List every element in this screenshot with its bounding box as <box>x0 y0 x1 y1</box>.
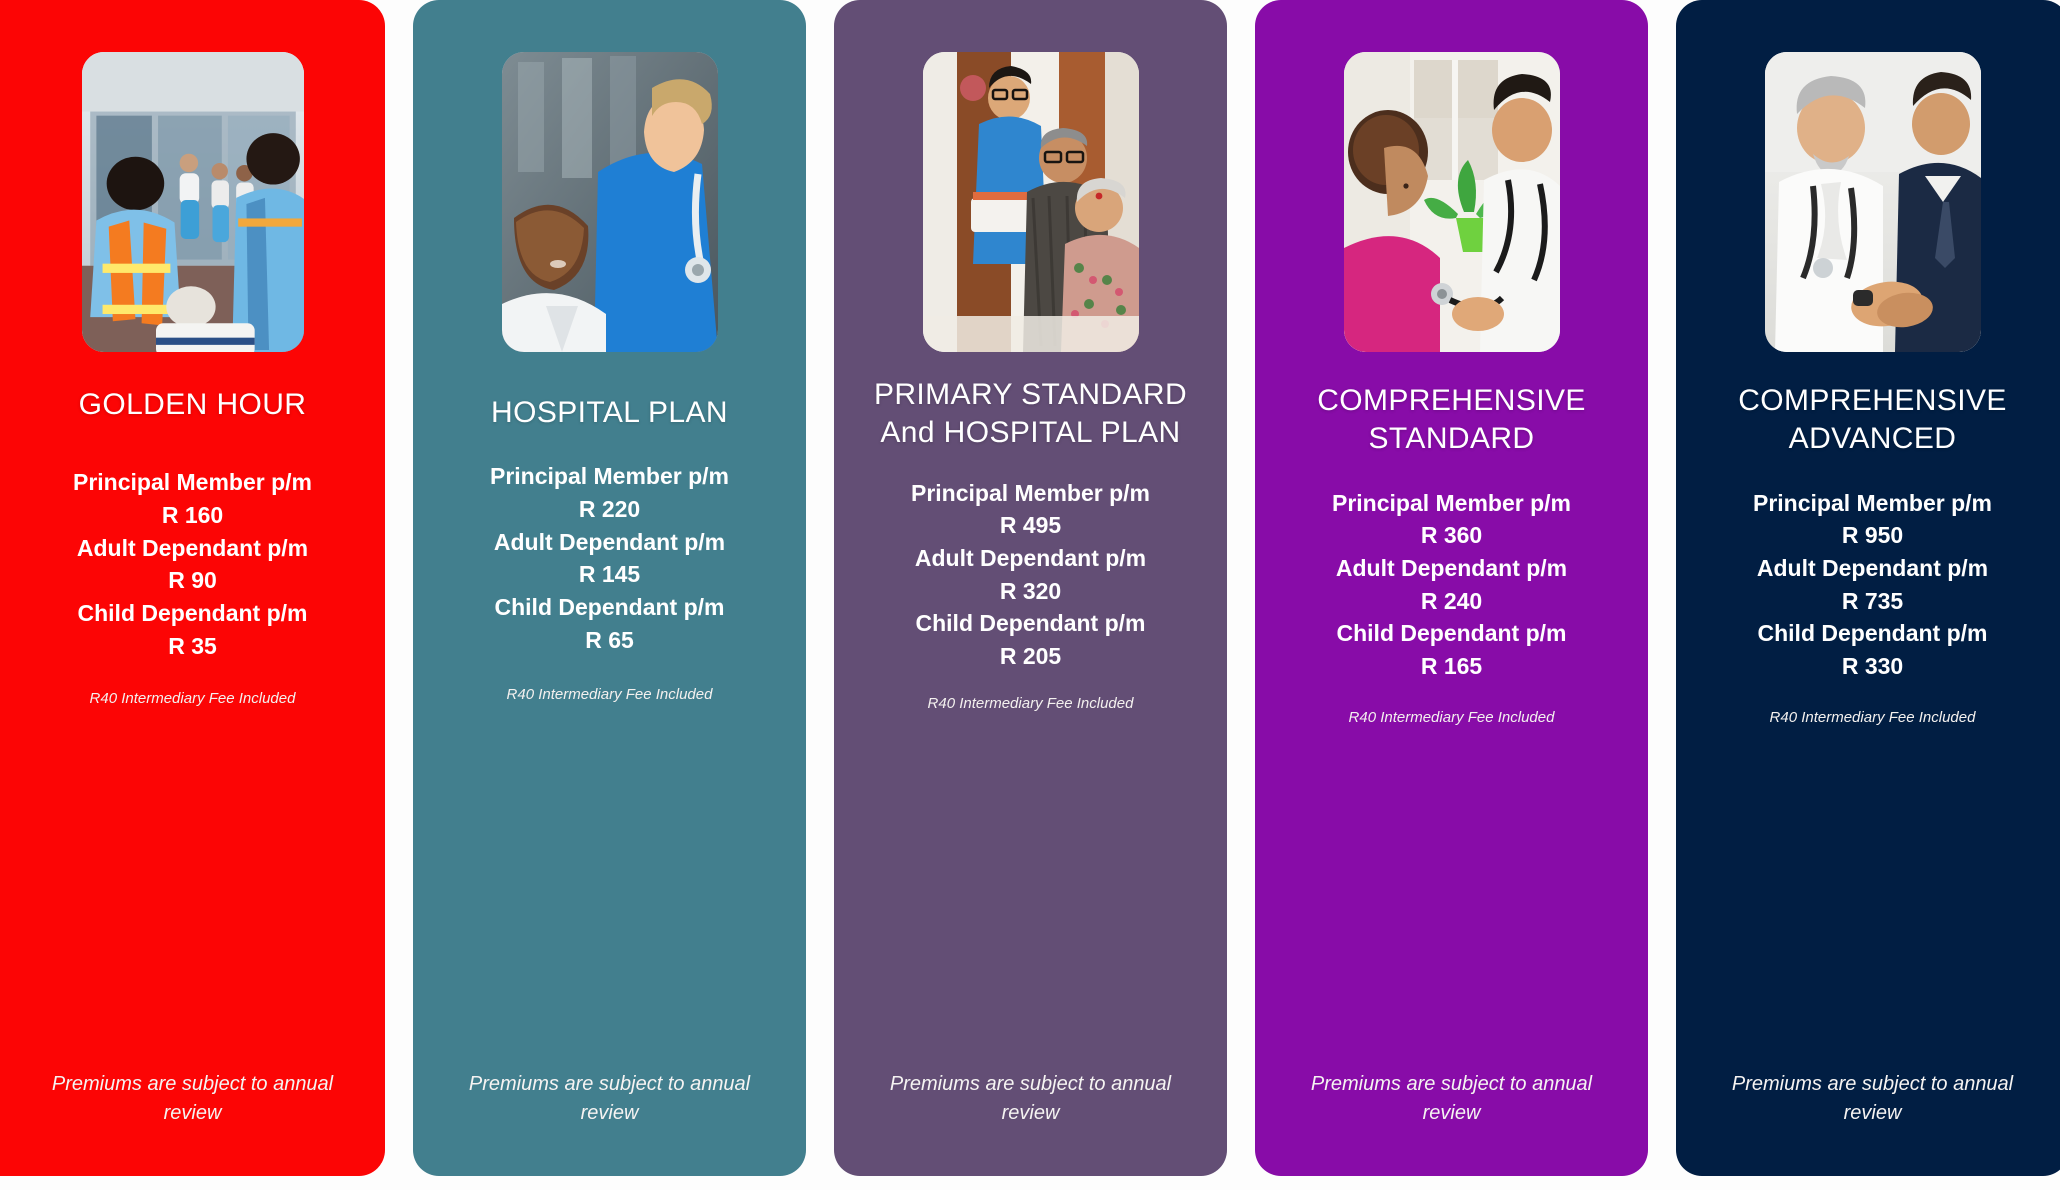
plan-card-primary-standard-and-hospital-plan[interactable]: PRIMARY STANDARD And HOSPITAL PLAN Princ… <box>834 0 1227 1176</box>
plan-title: PRIMARY STANDARD And HOSPITAL PLAN <box>862 376 1200 453</box>
child-price: R 35 <box>19 630 366 663</box>
price-block: Principal Member p/m R 360 Adult Dependa… <box>1275 487 1629 683</box>
principal-price: R 495 <box>854 509 1208 542</box>
adult-price: R 320 <box>854 575 1208 608</box>
adult-label: Adult Dependant p/m <box>854 542 1208 575</box>
principal-price: R 950 <box>1696 519 2050 552</box>
paramedics-emergency-stretcher-photo <box>82 52 304 352</box>
annual-review-note: Premiums are subject to annual review <box>1704 1070 2042 1128</box>
doctor-handshake-with-patient-photo <box>1765 52 1981 352</box>
plan-card-golden-hour[interactable]: GOLDEN HOUR Principal Member p/m R 160 A… <box>0 0 385 1176</box>
child-label: Child Dependant p/m <box>1275 617 1629 650</box>
child-price: R 65 <box>433 624 787 657</box>
intermediary-fee-note: R40 Intermediary Fee Included <box>1692 709 2054 726</box>
principal-label: Principal Member p/m <box>854 477 1208 510</box>
principal-label: Principal Member p/m <box>19 466 366 499</box>
annual-review-note: Premiums are subject to annual review <box>441 1070 779 1128</box>
plan-title: HOSPITAL PLAN <box>441 394 779 432</box>
plan-title: COMPREHENSIVE STANDARD <box>1283 382 1621 459</box>
doctor-examining-child-stethoscope-photo <box>1344 52 1560 352</box>
annual-review-note: Premiums are subject to annual review <box>862 1070 1200 1128</box>
plan-card-comprehensive-standard[interactable]: COMPREHENSIVE STANDARD Principal Member … <box>1255 0 1648 1176</box>
child-label: Child Dependant p/m <box>19 597 366 630</box>
principal-label: Principal Member p/m <box>433 460 787 493</box>
plan-card-comprehensive-advanced[interactable]: COMPREHENSIVE ADVANCED Principal Member … <box>1676 0 2060 1176</box>
intermediary-fee-note: R40 Intermediary Fee Included <box>429 686 791 703</box>
annual-review-note: Premiums are subject to annual review <box>1283 1070 1621 1128</box>
home-care-nurse-with-elderly-couple-photo <box>923 52 1139 352</box>
principal-price: R 160 <box>19 499 366 532</box>
pricing-cards-row: GOLDEN HOUR Principal Member p/m R 160 A… <box>0 0 2060 1190</box>
principal-price: R 360 <box>1275 519 1629 552</box>
price-block: Principal Member p/m R 950 Adult Dependa… <box>1696 487 2050 683</box>
principal-label: Principal Member p/m <box>1275 487 1629 520</box>
intermediary-fee-note: R40 Intermediary Fee Included <box>850 695 1212 712</box>
plan-card-hospital-plan[interactable]: HOSPITAL PLAN Principal Member p/m R 220… <box>413 0 806 1176</box>
adult-price: R 145 <box>433 558 787 591</box>
principal-label: Principal Member p/m <box>1696 487 2050 520</box>
plan-title: COMPREHENSIVE ADVANCED <box>1704 382 2042 459</box>
child-label: Child Dependant p/m <box>433 591 787 624</box>
child-price: R 165 <box>1275 650 1629 683</box>
price-block: Principal Member p/m R 495 Adult Dependa… <box>854 477 1208 673</box>
child-price: R 330 <box>1696 650 2050 683</box>
plan-title: GOLDEN HOUR <box>27 386 358 424</box>
adult-label: Adult Dependant p/m <box>19 532 366 565</box>
intermediary-fee-note: R40 Intermediary Fee Included <box>15 690 369 707</box>
price-block: Principal Member p/m R 220 Adult Dependa… <box>433 460 787 656</box>
adult-price: R 735 <box>1696 585 2050 618</box>
adult-label: Adult Dependant p/m <box>433 526 787 559</box>
principal-price: R 220 <box>433 493 787 526</box>
annual-review-note: Premiums are subject to annual review <box>27 1070 358 1128</box>
adult-price: R 240 <box>1275 585 1629 618</box>
adult-label: Adult Dependant p/m <box>1275 552 1629 585</box>
adult-price: R 90 <box>19 564 366 597</box>
child-label: Child Dependant p/m <box>854 607 1208 640</box>
intermediary-fee-note: R40 Intermediary Fee Included <box>1271 709 1633 726</box>
child-price: R 205 <box>854 640 1208 673</box>
nurse-with-smiling-patient-photo <box>502 52 718 352</box>
price-block: Principal Member p/m R 160 Adult Dependa… <box>19 466 366 662</box>
adult-label: Adult Dependant p/m <box>1696 552 2050 585</box>
child-label: Child Dependant p/m <box>1696 617 2050 650</box>
